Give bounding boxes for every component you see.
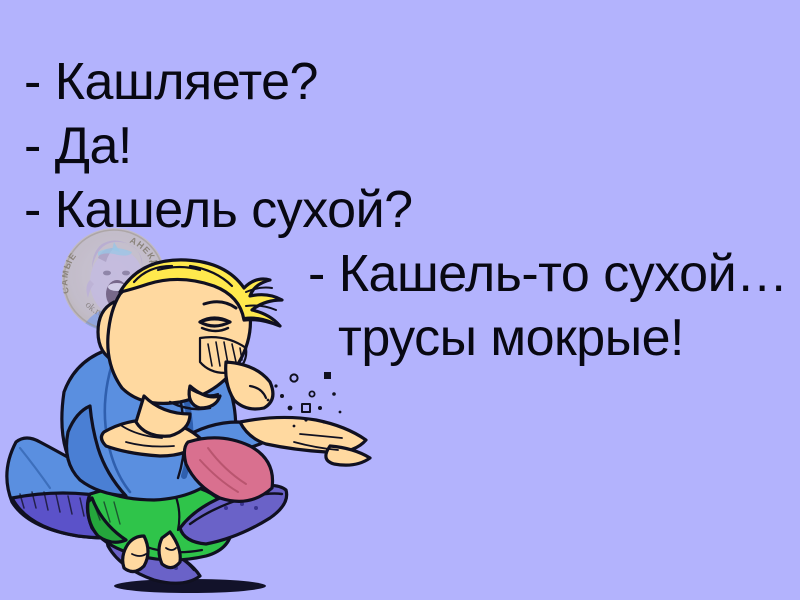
caption-line-1: - Кашляете? [24,56,318,108]
caption-line-4: - Кашель-то сухой… [308,248,788,300]
caption-line-2: - Да! [24,120,132,172]
caption-line-3: - Кашель сухой? [24,184,413,236]
meme-image: САМЫЕ АНЕКДОТЫ ok.ru/anekdot [0,0,800,600]
caption-line-5: трусы мокрые! [338,312,684,364]
